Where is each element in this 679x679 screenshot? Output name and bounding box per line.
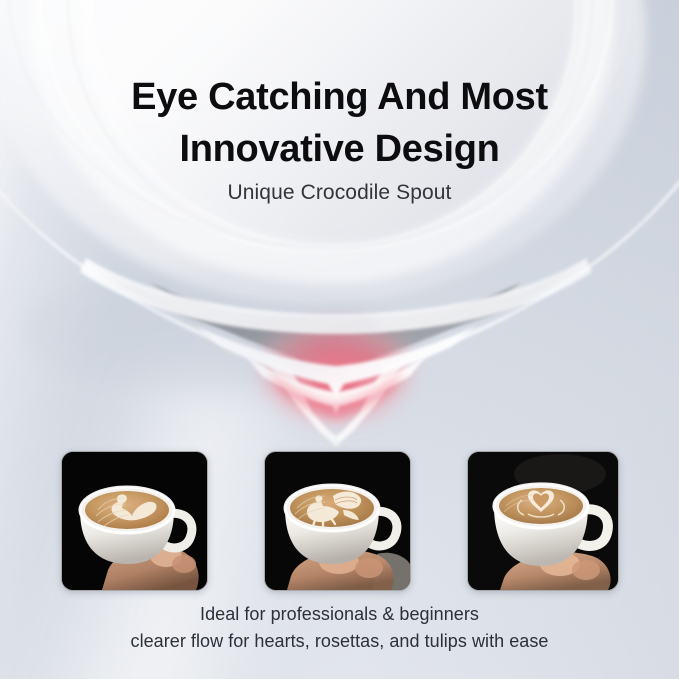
headline-line-2: Innovative Design: [0, 123, 679, 175]
product-feature-banner: Eye Catching And Most Innovative Design …: [0, 0, 679, 679]
latte-art-gallery: [0, 451, 679, 591]
thumbnail-latte-art-swan[interactable]: [61, 451, 208, 591]
thumbnail-latte-art-pegasus[interactable]: [264, 451, 411, 591]
caption-line-1: Ideal for professionals & beginners: [200, 604, 479, 624]
headline-line-1: Eye Catching And Most: [131, 76, 548, 118]
latte-art-tulip-heart-photo: [468, 452, 618, 590]
subtitle: Unique Crocodile Spout: [0, 181, 679, 205]
latte-art-pegasus-photo: [265, 452, 410, 590]
latte-art-swan-photo: [62, 452, 207, 590]
headline: Eye Catching And Most Innovative Design: [0, 71, 679, 175]
caption-line-2: clearer flow for hearts, rosettas, and t…: [0, 628, 679, 655]
thumbnail-latte-art-tulip-heart[interactable]: [467, 451, 619, 591]
bottom-caption: Ideal for professionals & beginners clea…: [0, 601, 679, 655]
